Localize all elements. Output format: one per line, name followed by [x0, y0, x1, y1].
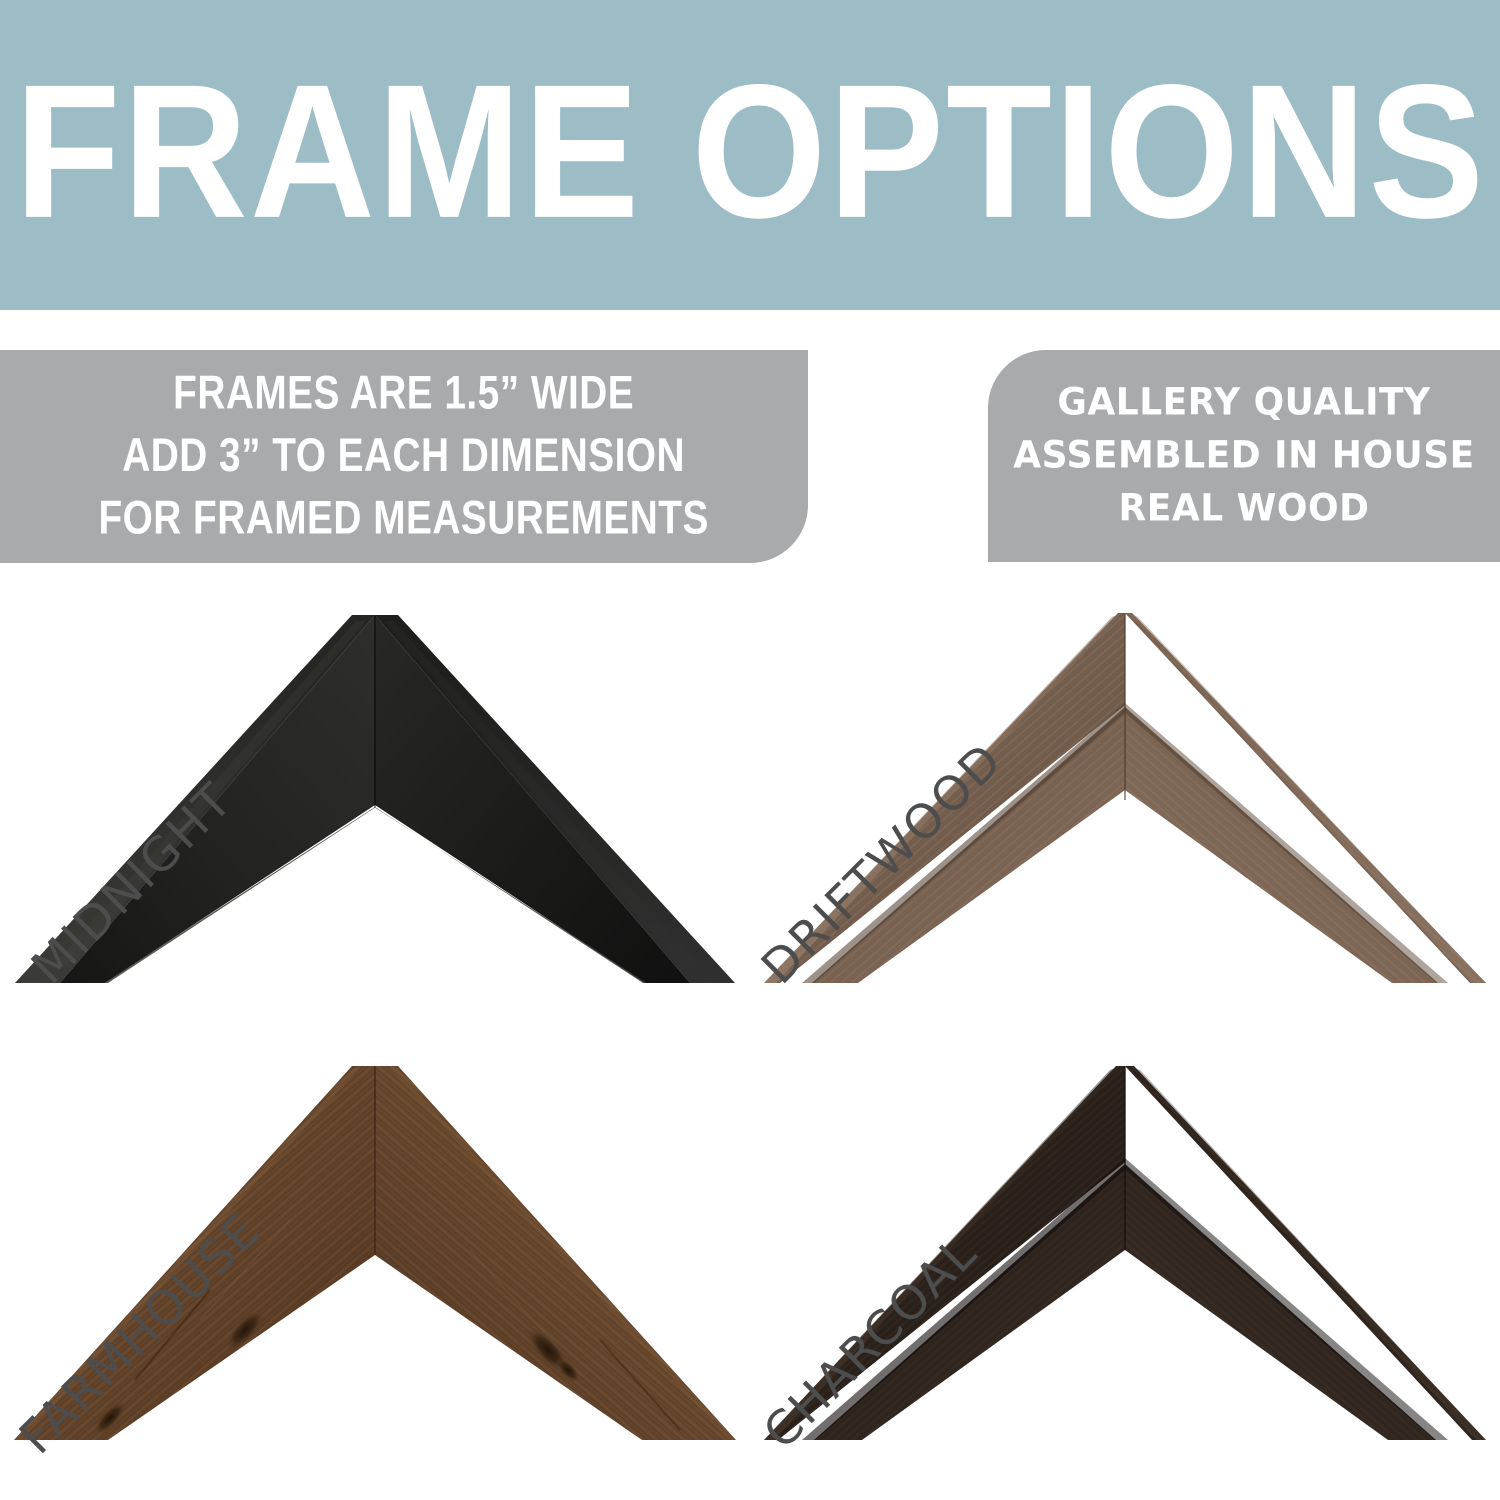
frame-swatch-farmhouse[interactable]: FARMHOUSE — [0, 1040, 750, 1495]
frame-swatch-driftwood[interactable]: DRIFTWOOD — [750, 585, 1500, 1040]
midnight-frame-chevron-icon — [0, 585, 750, 1040]
quality-note-box: GALLERY QUALITY ASSEMBLED IN HOUSE REAL … — [988, 350, 1500, 562]
page-title: FRAME OPTIONS — [14, 66, 1486, 237]
frame-swatch-charcoal[interactable]: CHARCOAL — [750, 1040, 1500, 1495]
farmhouse-frame-chevron-icon — [0, 1040, 750, 1495]
frame-swatch-midnight[interactable]: MIDNIGHT — [0, 585, 750, 1040]
driftwood-frame-chevron-icon — [750, 585, 1500, 1040]
header-banner: FRAME OPTIONS — [0, 0, 1500, 310]
charcoal-frame-chevron-icon — [750, 1040, 1500, 1495]
sizing-note-text: FRAMES ARE 1.5” WIDE ADD 3” TO EACH DIME… — [99, 362, 709, 550]
sizing-note-box: FRAMES ARE 1.5” WIDE ADD 3” TO EACH DIME… — [0, 350, 808, 563]
quality-note-text: GALLERY QUALITY ASSEMBLED IN HOUSE REAL … — [1013, 376, 1474, 535]
frame-swatch-grid: MIDNIGHT — [0, 585, 1500, 1500]
